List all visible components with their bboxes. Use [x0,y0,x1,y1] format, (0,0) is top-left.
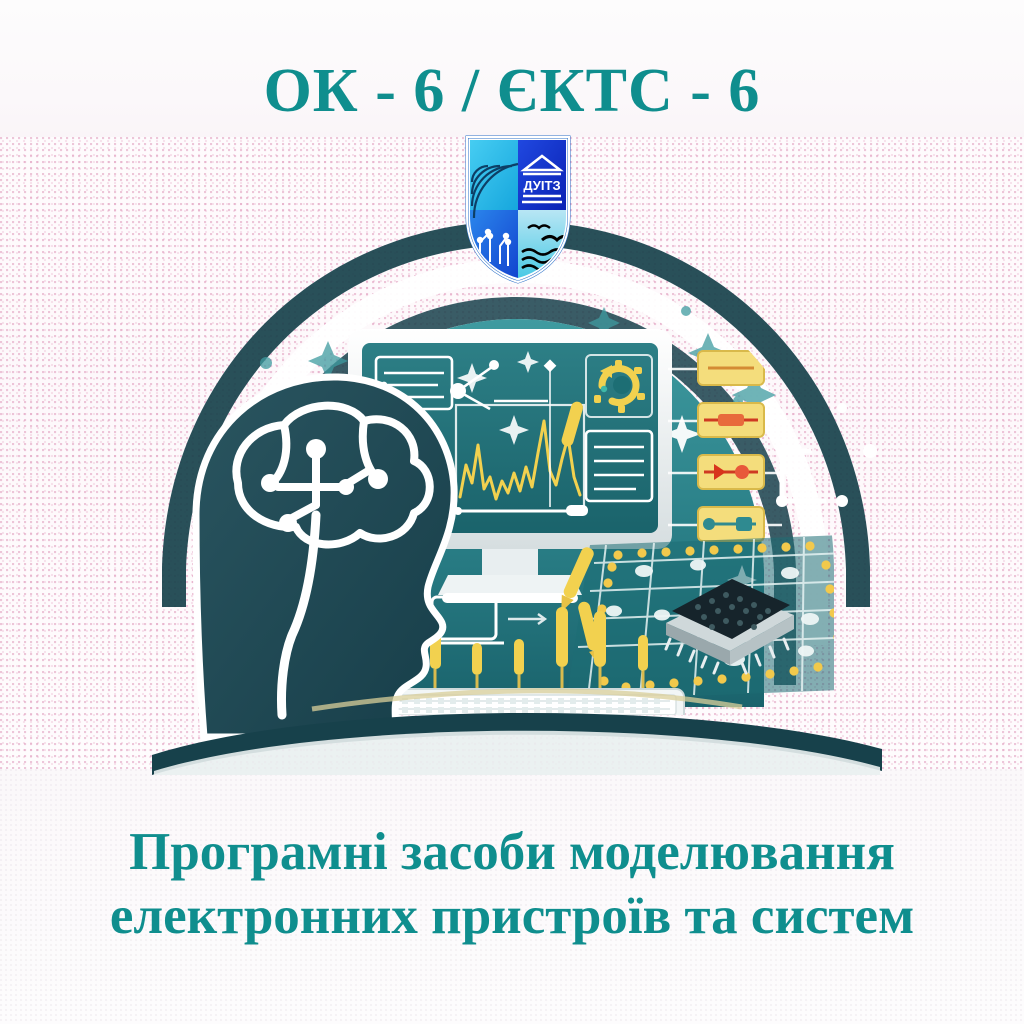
illustration-artwork [142,215,890,775]
component-block-1 [698,351,764,385]
component-block-3 [698,455,764,489]
university-emblem: ДУІТЗ [462,132,574,284]
poster-canvas: ДУІТЗ [0,0,1024,1024]
course-title-line-2: електронних пристроїв та систем [0,884,1024,948]
emblem-abbreviation: ДУІТЗ [523,178,560,193]
component-block-2 [698,403,764,437]
pcb-board [566,535,866,701]
component-block-4 [698,507,764,541]
course-title-line-1: Програмні засоби моделювання [0,820,1024,884]
human-head-silhouette [196,377,454,737]
course-code-heading: ОК - 6 / ЄКТС - 6 [0,56,1024,127]
course-title: Програмні засоби моделювання електронних… [0,820,1024,948]
